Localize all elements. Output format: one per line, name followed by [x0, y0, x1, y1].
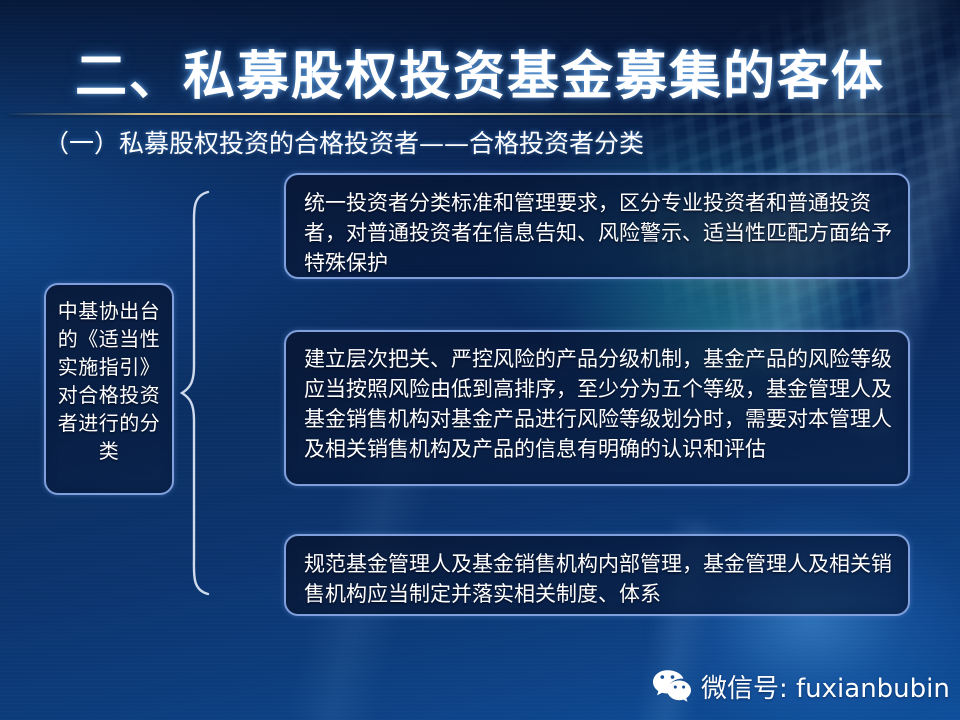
content-text-3: 规范基金管理人及基金销售机构内部管理，基金管理人及相关销售机构应当制定并落实相关…: [304, 549, 894, 609]
curly-brace-connector: [178, 188, 218, 598]
content-box-2[interactable]: 建立层次把关、严控风险的产品分级机制，基金产品的风险等级应当按照风险由低到高排序…: [284, 330, 910, 486]
content-box-3[interactable]: 规范基金管理人及基金销售机构内部管理，基金管理人及相关销售机构应当制定并落实相关…: [284, 534, 910, 616]
slide-canvas: 二、私募股权投资基金募集的客体 （一）私募股权投资的合格投资者——合格投资者分类…: [0, 0, 960, 720]
wechat-icon: [652, 669, 692, 703]
page-subtitle: （一）私募股权投资的合格投资者——合格投资者分类: [44, 124, 644, 160]
watermark-text: 微信号: fuxianbubin: [701, 668, 950, 705]
content-text-1: 统一投资者分类标准和管理要求，区分专业投资者和普通投资者，对普通投资者在信息告知…: [304, 188, 894, 278]
content-box-1[interactable]: 统一投资者分类标准和管理要求，区分专业投资者和普通投资者，对普通投资者在信息告知…: [284, 173, 910, 279]
page-title: 二、私募股权投资基金募集的客体: [0, 34, 960, 109]
left-category-label: 中基协出台的《适当性实施指引》对合格投资者进行的分类: [52, 297, 166, 465]
content-text-2: 建立层次把关、严控风险的产品分级机制，基金产品的风险等级应当按照风险由低到高排序…: [304, 344, 894, 464]
left-category-box[interactable]: 中基协出台的《适当性实施指引》对合格投资者进行的分类: [44, 283, 174, 495]
watermark: 微信号: fuxianbubin: [652, 665, 950, 707]
title-divider: [8, 113, 952, 115]
